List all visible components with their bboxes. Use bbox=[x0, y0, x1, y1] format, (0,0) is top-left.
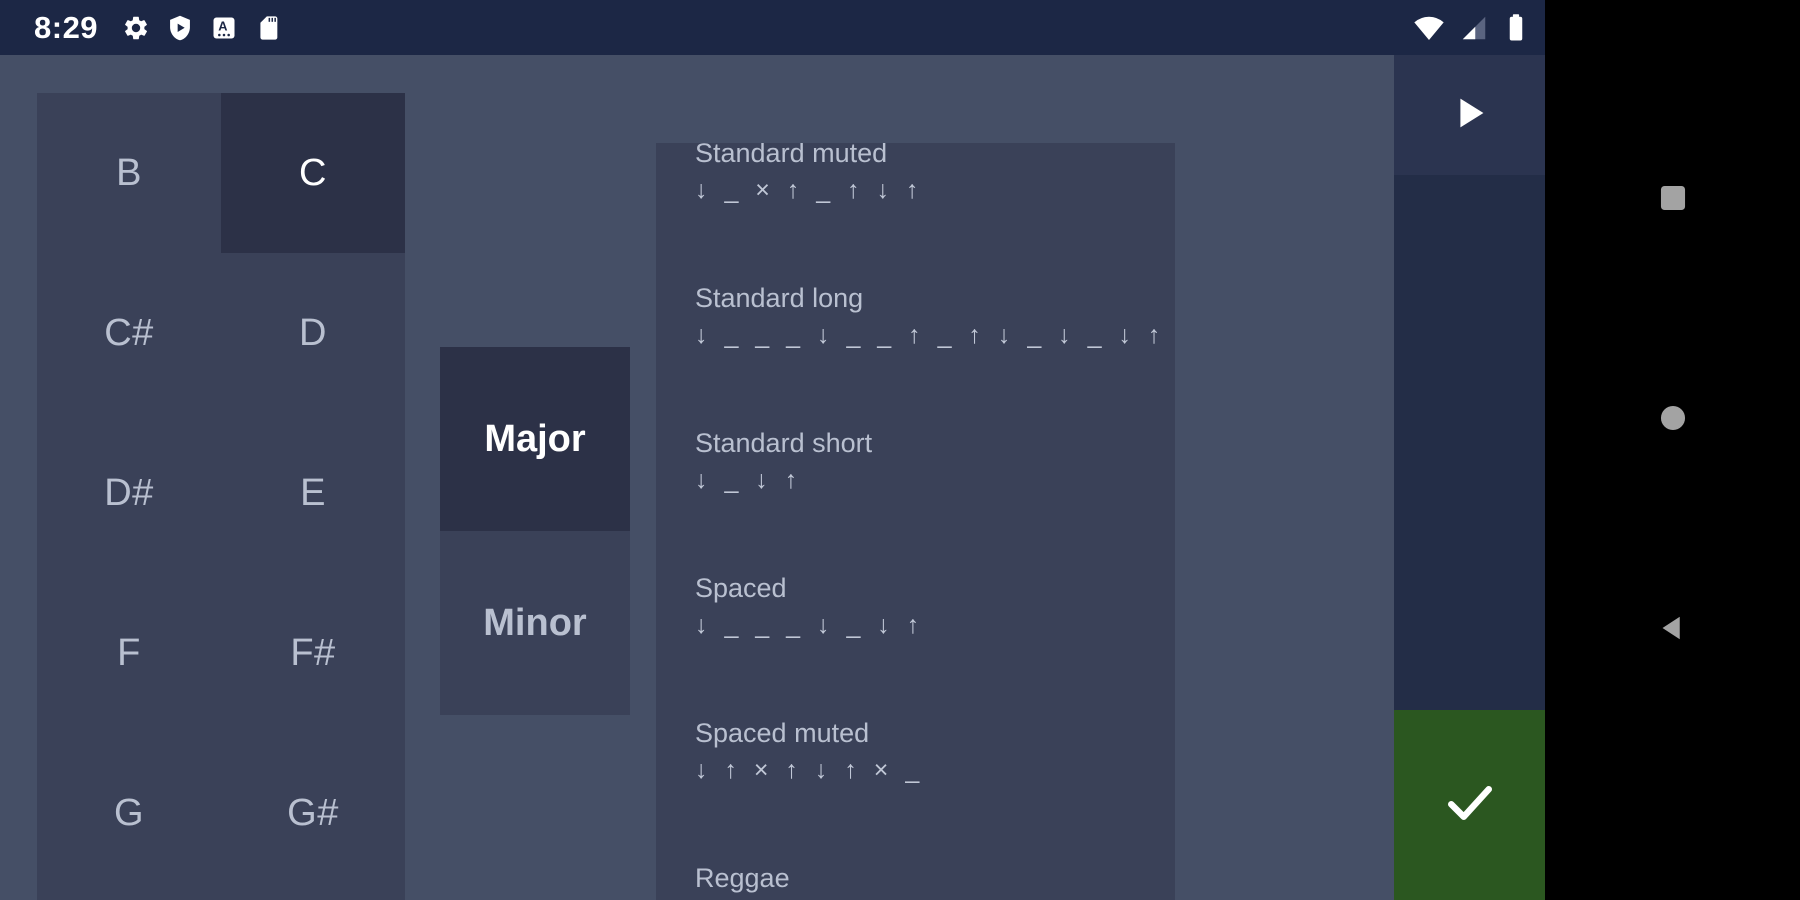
note-cell-d-sharp[interactable]: D# bbox=[37, 413, 221, 573]
chord-quality-picker[interactable]: Major Minor bbox=[440, 347, 630, 715]
pattern-name: Standard muted bbox=[695, 143, 1136, 171]
note-label: G# bbox=[287, 792, 339, 835]
pattern-strokes: ↓ _ ↓ ↑ bbox=[695, 461, 1136, 499]
status-bar-right bbox=[1399, 12, 1529, 44]
quality-option-minor[interactable]: Minor bbox=[440, 531, 630, 715]
status-bar: 8:29 A bbox=[0, 0, 1545, 55]
root-note-picker[interactable]: B C C# D D# E F F# G G# bbox=[37, 93, 405, 900]
square-recents-icon bbox=[1656, 181, 1690, 220]
note-cell-c[interactable]: C bbox=[221, 93, 405, 253]
nav-recents-button[interactable] bbox=[1545, 155, 1800, 245]
list-item[interactable]: Standard long ↓ _ _ _ ↓ _ _ ↑ _ ↑ ↓ _ ↓ … bbox=[656, 266, 1175, 411]
note-label: F bbox=[117, 632, 141, 675]
device-screen: 8:29 A bbox=[0, 0, 1800, 900]
note-grid: B C C# D D# E F F# G G# bbox=[37, 93, 405, 893]
play-protect-shield-icon bbox=[166, 14, 194, 42]
wifi-icon bbox=[1413, 12, 1445, 44]
list-item[interactable]: Spaced muted ↓ ↑ × ↑ ↓ ↑ × _ bbox=[656, 701, 1175, 846]
pattern-name: Standard long bbox=[695, 266, 1136, 316]
sd-card-icon bbox=[254, 14, 282, 42]
nav-home-button[interactable] bbox=[1545, 375, 1800, 465]
quality-label: Major bbox=[484, 418, 585, 461]
confirm-button[interactable] bbox=[1394, 710, 1545, 900]
note-cell-f-sharp[interactable]: F# bbox=[221, 573, 405, 733]
note-cell-f[interactable]: F bbox=[37, 573, 221, 733]
list-item[interactable]: Reggae ↓ _ ↓ ↑ × _ ↓ bbox=[656, 846, 1175, 900]
note-label: D bbox=[299, 312, 327, 355]
triangle-back-icon bbox=[1655, 610, 1691, 651]
pattern-name: Standard short bbox=[695, 411, 1136, 461]
circle-home-icon bbox=[1656, 401, 1690, 440]
pattern-strokes: ↓ _ ↓ ↑ × _ ↓ bbox=[695, 896, 1136, 900]
play-triangle-icon bbox=[1447, 90, 1493, 141]
note-cell-d[interactable]: D bbox=[221, 253, 405, 413]
note-label: C# bbox=[104, 312, 154, 355]
note-cell-b[interactable]: B bbox=[37, 93, 221, 253]
pattern-name: Reggae bbox=[695, 846, 1136, 896]
checkmark-icon bbox=[1440, 773, 1500, 838]
note-label: G bbox=[114, 792, 144, 835]
strumming-pattern-list[interactable]: Standard muted ↓ _ × ↑ _ ↑ ↓ ↑ Standard … bbox=[656, 143, 1175, 900]
quality-label: Minor bbox=[483, 602, 586, 645]
note-cell-g[interactable]: G bbox=[37, 733, 221, 893]
pattern-strokes: ↓ _ _ _ ↓ _ ↓ ↑ bbox=[695, 606, 1136, 644]
note-label: E bbox=[300, 472, 326, 515]
password-autofill-icon: A bbox=[210, 14, 238, 42]
android-nav-bar bbox=[1545, 0, 1800, 900]
pattern-name: Spaced bbox=[695, 556, 1136, 606]
list-item[interactable]: Standard muted ↓ _ × ↑ _ ↑ ↓ ↑ bbox=[656, 143, 1175, 266]
action-column bbox=[1394, 55, 1545, 900]
pattern-strokes: ↓ _ _ _ ↓ _ _ ↑ _ ↑ ↓ _ ↓ _ ↓ ↑ bbox=[695, 316, 1136, 354]
pattern-strokes: ↓ ↑ × ↑ ↓ ↑ × _ bbox=[695, 751, 1136, 789]
note-label: C bbox=[299, 152, 327, 195]
note-cell-g-sharp[interactable]: G# bbox=[221, 733, 405, 893]
play-button[interactable] bbox=[1394, 55, 1545, 175]
note-label: B bbox=[116, 152, 142, 195]
note-label: F# bbox=[290, 632, 335, 675]
list-item[interactable]: Standard short ↓ _ ↓ ↑ bbox=[656, 411, 1175, 556]
list-item[interactable]: Spaced ↓ _ _ _ ↓ _ ↓ ↑ bbox=[656, 556, 1175, 701]
app-content: B C C# D D# E F F# G G# Major Minor Stan… bbox=[0, 55, 1545, 900]
status-bar-clock: 8:29 bbox=[34, 10, 98, 46]
pattern-strokes: ↓ _ × ↑ _ ↑ ↓ ↑ bbox=[695, 171, 1136, 209]
note-label: D# bbox=[104, 472, 154, 515]
status-bar-left: 8:29 A bbox=[34, 10, 1399, 46]
quality-option-major[interactable]: Major bbox=[440, 347, 630, 531]
settings-gear-icon bbox=[122, 14, 150, 42]
pattern-name: Spaced muted bbox=[695, 701, 1136, 751]
nav-back-button[interactable] bbox=[1545, 585, 1800, 675]
cellular-signal-icon bbox=[1459, 13, 1489, 43]
battery-icon bbox=[1503, 13, 1529, 43]
note-cell-e[interactable]: E bbox=[221, 413, 405, 573]
note-cell-c-sharp[interactable]: C# bbox=[37, 253, 221, 413]
svg-text:A: A bbox=[218, 18, 227, 33]
